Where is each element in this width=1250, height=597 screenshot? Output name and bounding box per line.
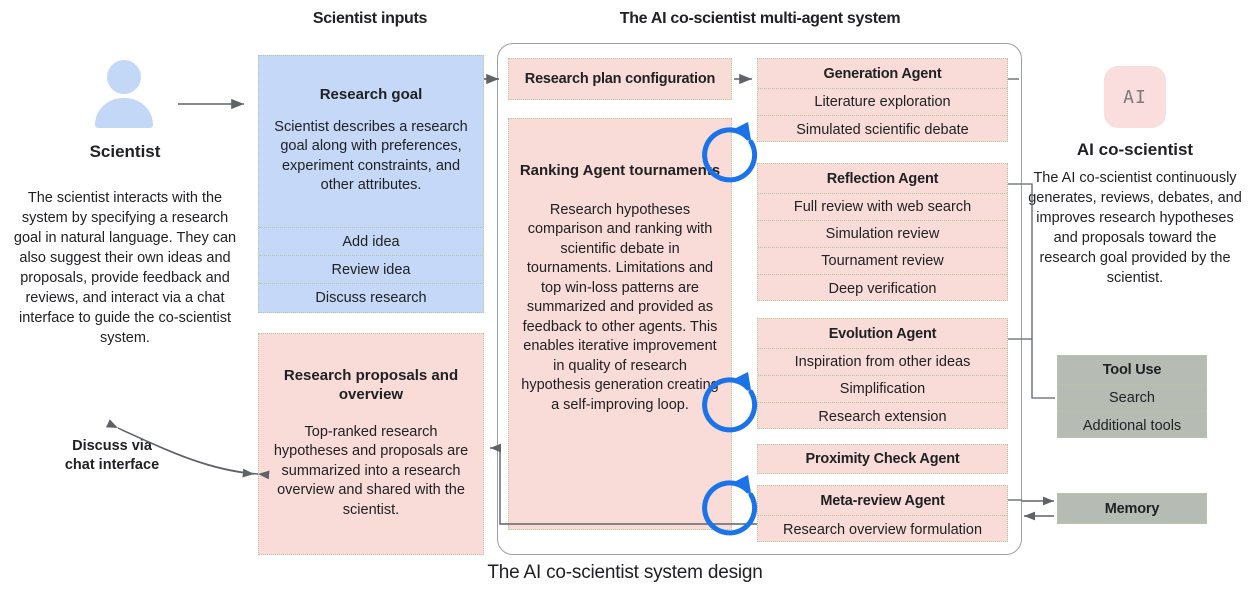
ai-badge-icon: AI [1104, 66, 1166, 128]
research-goal-box[interactable]: Research goal Scientist describes a rese… [258, 55, 484, 313]
ranking-agent-body: Ranking Agent tournaments Research hypot… [509, 119, 731, 529]
meta-review-agent-title: Meta-review Agent [758, 486, 1007, 516]
research-goal-title: Research goal [320, 85, 423, 105]
meta-review-agent-item-research-overview-formulation[interactable]: Research overview formulation [758, 516, 1007, 543]
research-goal-body: Research goal Scientist describes a rese… [259, 56, 483, 228]
evolution-agent-title: Evolution Agent [758, 319, 1007, 349]
proximity-check-agent-box[interactable]: Proximity Check Agent [757, 444, 1008, 474]
reflection-agent-item-full-review-with-web-search[interactable]: Full review with web search [758, 194, 1007, 221]
ai-coscientist-description: The AI co-scientist continuously generat… [1028, 168, 1242, 288]
generation-agent-item-literature-exploration[interactable]: Literature exploration [758, 89, 1007, 116]
research-goal-action-review-idea[interactable]: Review idea [259, 256, 483, 284]
diagram-canvas: Scientist inputs The AI co-scientist mul… [0, 0, 1250, 597]
tool-use-item-additional-tools[interactable]: Additional tools [1058, 412, 1206, 439]
research-goal-description: Scientist describes a research goal alon… [269, 118, 473, 196]
person-icon [72, 60, 176, 128]
tool-use-item-search[interactable]: Search [1058, 385, 1206, 412]
reflection-agent-box[interactable]: Reflection Agent Full review with web se… [757, 163, 1008, 301]
research-plan-configuration-label: Research plan configuration [509, 59, 731, 99]
research-plan-configuration-box[interactable]: Research plan configuration [508, 58, 732, 100]
generation-agent-title: Generation Agent [758, 59, 1007, 89]
scientist-label: Scientist [20, 142, 230, 162]
ranking-agent-description: Research hypotheses comparison and ranki… [519, 201, 721, 416]
reflection-agent-title: Reflection Agent [758, 164, 1007, 194]
tool-use-box[interactable]: Tool Use Search Additional tools [1057, 355, 1207, 438]
memory-title: Memory [1058, 494, 1206, 523]
memory-box[interactable]: Memory [1057, 493, 1207, 524]
research-proposals-body: Research proposals and overview Top-rank… [259, 334, 483, 554]
meta-review-agent-box[interactable]: Meta-review Agent Research overview form… [757, 485, 1008, 542]
research-goal-action-discuss-research[interactable]: Discuss research [259, 284, 483, 312]
discuss-via-chat-label: Discuss via chat interface [22, 437, 202, 475]
research-proposals-box[interactable]: Research proposals and overview Top-rank… [258, 333, 484, 555]
scientist-description: The scientist interacts with the system … [12, 188, 238, 348]
tool-use-title: Tool Use [1058, 356, 1206, 385]
column-title-scientist-inputs: Scientist inputs [250, 10, 490, 28]
evolution-agent-item-inspiration-from-other-ideas[interactable]: Inspiration from other ideas [758, 349, 1007, 376]
evolution-agent-item-research-extension[interactable]: Research extension [758, 403, 1007, 430]
discuss-line-2: chat interface [65, 457, 159, 473]
research-goal-action-add-idea[interactable]: Add idea [259, 228, 483, 256]
evolution-agent-box[interactable]: Evolution Agent Inspiration from other i… [757, 318, 1008, 429]
ai-coscientist-title: AI co-scientist [1035, 140, 1235, 160]
reflection-agent-item-tournament-review[interactable]: Tournament review [758, 248, 1007, 275]
figure-caption: The AI co-scientist system design [0, 562, 1250, 584]
ranking-agent-tournaments-box[interactable]: Ranking Agent tournaments Research hypot… [508, 118, 732, 530]
reflection-agent-item-simulation-review[interactable]: Simulation review [758, 221, 1007, 248]
research-proposals-title: Research proposals and overview [269, 366, 473, 405]
proximity-check-agent-title: Proximity Check Agent [758, 445, 1007, 473]
generation-agent-item-simulated-scientific-debate[interactable]: Simulated scientific debate [758, 116, 1007, 143]
discuss-line-1: Discuss via [72, 438, 152, 454]
reflection-agent-item-deep-verification[interactable]: Deep verification [758, 275, 1007, 302]
research-proposals-description: Top-ranked research hypotheses and propo… [269, 423, 473, 521]
ranking-agent-title: Ranking Agent tournaments [520, 161, 720, 181]
generation-agent-box[interactable]: Generation Agent Literature exploration … [757, 58, 1008, 142]
evolution-agent-item-simplification[interactable]: Simplification [758, 376, 1007, 403]
column-title-system: The AI co-scientist multi-agent system [520, 10, 1000, 28]
